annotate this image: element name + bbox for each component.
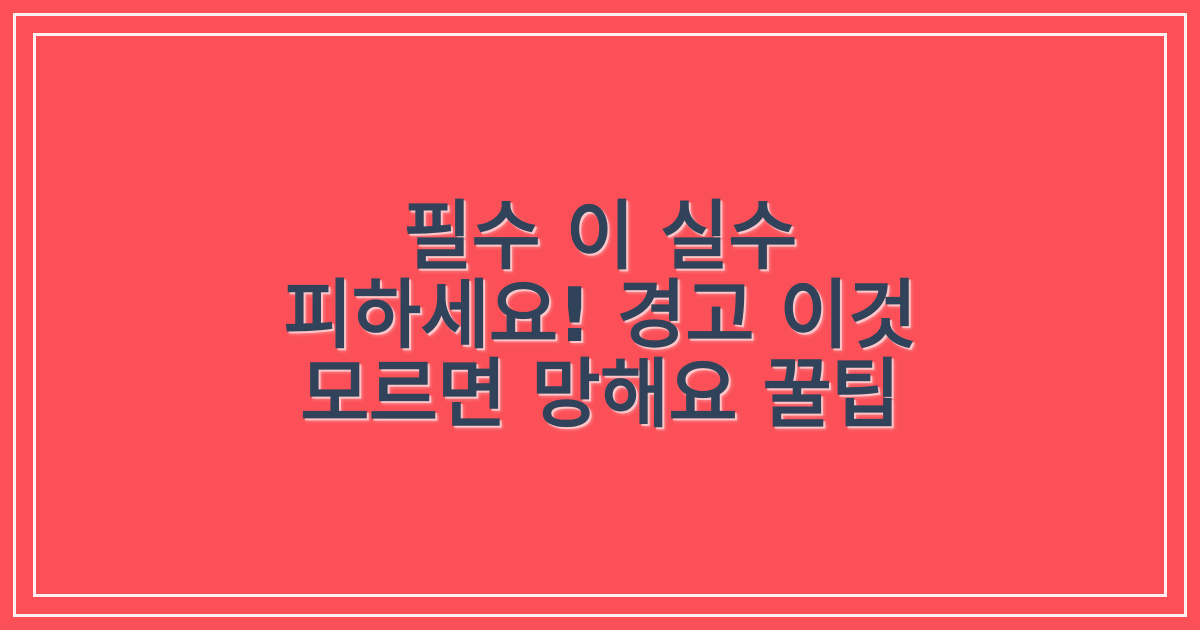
headline-container: 필수 이 실수 피하세요! 경고 이것 모르면 망해요 꿀팁 — [50, 0, 1150, 630]
headline-line-3: 모르면 망해요 꿀팁 — [284, 357, 917, 432]
headline-line-1: 필수 이 실수 — [284, 199, 917, 274]
headline-line-2: 피하세요! 경고 이것 — [284, 278, 917, 353]
page-title: 필수 이 실수 피하세요! 경고 이것 모르면 망해요 꿀팁 — [284, 199, 917, 432]
poster-canvas: 필수 이 실수 피하세요! 경고 이것 모르면 망해요 꿀팁 — [0, 0, 1200, 630]
